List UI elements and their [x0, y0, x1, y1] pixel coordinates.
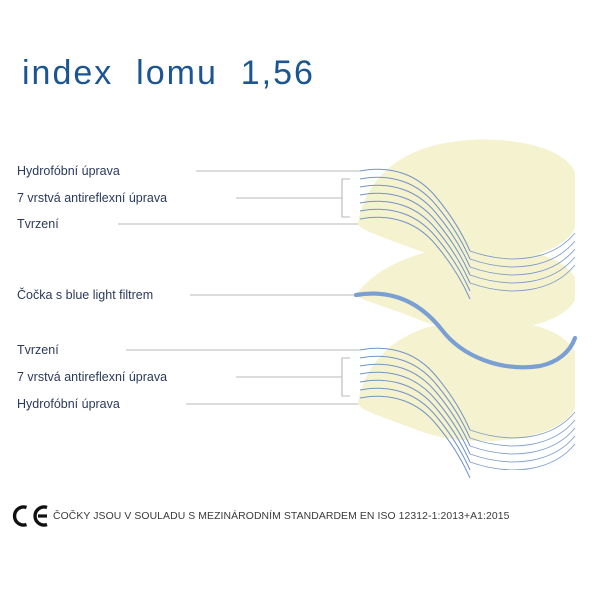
callout-label-hydrophobic-bottom: Hydrofóbní úprava — [17, 398, 120, 411]
lens-diagram-page: index lomu 1,56 — [0, 0, 600, 600]
callout-label-blue-light-filter: Čočka s blue light filtrem — [17, 289, 153, 302]
callout-label-hardening-top: Tvrzení — [17, 218, 59, 231]
callout-label-antireflective-bottom: 7 vrstvá antireflexní úprava — [17, 371, 167, 384]
ce-mark-icon — [10, 503, 52, 529]
lens-stack-bottom — [358, 320, 575, 478]
compliance-statement: ČOČKY JSOU V SOULADU S MEZINÁRODNÍM STAN… — [53, 511, 510, 522]
callout-label-antireflective-top: 7 vrstvá antireflexní úprava — [17, 192, 167, 205]
callout-label-hardening-bottom: Tvrzení — [17, 344, 59, 357]
callout-label-hydrophobic-top: Hydrofóbní úprava — [17, 165, 120, 178]
